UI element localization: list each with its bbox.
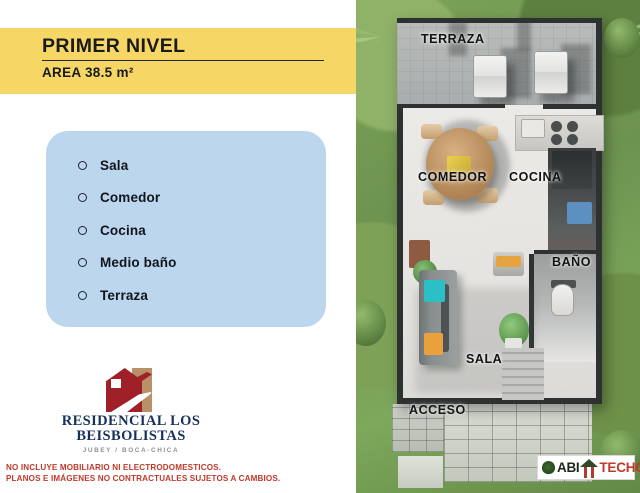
coffee-bench-top [496, 256, 521, 267]
circle-bullet-icon [78, 258, 87, 267]
plan-label-comedor: COMEDOR [418, 170, 487, 184]
logo-name-line2: BEISBOLISTAS [46, 429, 216, 444]
plan-label-bano: BAÑO [552, 255, 591, 269]
exterior-wall-top [397, 18, 602, 23]
abitecho-brand-second: TECHO [599, 460, 640, 475]
exterior-wall-left [397, 105, 403, 404]
list-item: Terraza [46, 279, 326, 312]
title-band: PRIMER NIVEL AREA 38.5 m² [0, 28, 356, 94]
circle-bullet-icon [78, 291, 87, 300]
room-label: Terraza [100, 288, 148, 303]
disclaimer-line-2: PLANOS E IMÁGENES NO CONTRACTUALES SUJET… [6, 473, 346, 485]
list-item: Sala [46, 149, 326, 182]
room-label: Medio baño [100, 255, 177, 270]
circle-bullet-icon [78, 161, 87, 170]
side-path-lower [398, 456, 443, 488]
house-and-baseball-batter-logo-icon [102, 366, 160, 412]
roof-house-icon [580, 458, 598, 478]
kitchen-sink [521, 119, 545, 138]
lounge-chair [534, 51, 568, 94]
stove-burner [551, 134, 562, 145]
leaf-sprig-icon [542, 461, 555, 474]
plan-label-sala: SALA [466, 352, 502, 366]
disclaimer: NO INCLUYE MOBILIARIO NI ELECTRODOMESTIC… [6, 462, 346, 485]
sofa-cushion-teal [424, 280, 445, 302]
stair-treads [502, 348, 544, 400]
room-label: Comedor [100, 190, 160, 205]
circle-bullet-icon [78, 226, 87, 235]
roof-post-left [584, 467, 587, 478]
stove-burner [567, 134, 578, 145]
logo-window-notch [111, 379, 121, 388]
plan-label-acceso: ACCESO [409, 403, 466, 417]
room-list: Sala Comedor Cocina Medio baño Terraza [46, 131, 326, 312]
toilet [551, 284, 574, 316]
floor-plan-render: TERRAZA COMEDOR COCINA BAÑO SALA ACCESO … [356, 0, 640, 493]
residencial-logo: RESIDENCIAL LOS BEISBOLISTAS JUBEY / BOC… [46, 366, 216, 454]
stove-burner [551, 121, 562, 132]
circle-bullet-icon [78, 193, 87, 202]
stove-burner [567, 121, 578, 132]
plan-label-terraza: TERRAZA [421, 32, 485, 46]
disclaimer-line-1: NO INCLUYE MOBILIARIO NI ELECTRODOMESTIC… [6, 462, 346, 474]
room-list-card: Sala Comedor Cocina Medio baño Terraza [46, 131, 326, 327]
terrace-divider-wall [397, 104, 505, 108]
shrub-icon [604, 18, 640, 58]
room-label: Cocina [100, 223, 146, 238]
page-title: PRIMER NIVEL [42, 35, 324, 61]
list-item: Comedor [46, 182, 326, 215]
left-info-panel: PRIMER NIVEL AREA 38.5 m² Sala Comedor C… [0, 0, 356, 493]
exterior-wall-right [596, 18, 602, 404]
railing-shadow [517, 20, 531, 50]
list-item: Cocina [46, 214, 326, 247]
house-footprint [397, 18, 602, 404]
kitchen-appliance [567, 202, 592, 224]
plan-label-cocina: COCINA [509, 170, 562, 184]
terrace-divider-wall [543, 104, 602, 109]
roof-triangle [580, 459, 598, 467]
abitecho-logo-badge: ABI TECHO [537, 455, 635, 480]
logo-subtitle: JUBEY / BOCA-CHICA [46, 447, 216, 454]
lounge-chair [473, 55, 507, 98]
abitecho-brand-first: ABI [557, 460, 579, 475]
plan-area-text: AREA 38.5 m² [42, 65, 324, 80]
floor-plan-marketing-sheet: PRIMER NIVEL AREA 38.5 m² Sala Comedor C… [0, 0, 640, 493]
title-band-inner: PRIMER NIVEL AREA 38.5 m² [42, 35, 324, 80]
room-label: Sala [100, 158, 128, 173]
sofa-cushion-orange [424, 333, 443, 355]
roof-post-right [591, 467, 594, 478]
logo-name-line1: RESIDENCIAL LOS [46, 414, 216, 429]
list-item: Medio baño [46, 247, 326, 280]
